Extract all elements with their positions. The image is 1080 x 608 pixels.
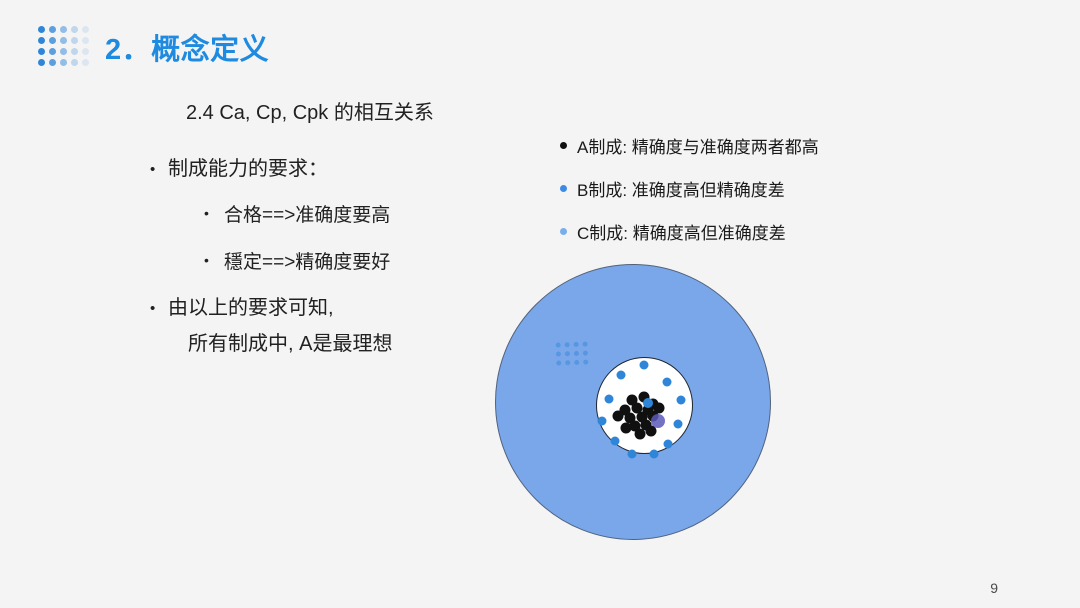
- diagram-cluster-point: [635, 429, 646, 440]
- legend-marker-a-icon: [560, 142, 567, 149]
- legend-label-a: A制成: 精确度与准确度两者都高: [577, 133, 819, 158]
- diagram-grid-dot: [565, 351, 570, 356]
- header-dot: [60, 26, 67, 33]
- diagram-ring-point: [617, 371, 626, 380]
- diagram-grid-dot: [574, 360, 579, 365]
- diagram-highlight-point: [651, 414, 665, 428]
- diagram-ring-point: [674, 420, 683, 429]
- bullet-marker: •: [150, 294, 168, 359]
- header-dot: [71, 48, 78, 55]
- diagram-grid-dot: [583, 351, 588, 356]
- bullet-item-conclusion: • 由以上的要求可知, 所有制成中, A是最理想: [150, 294, 550, 359]
- diagram-ring-point: [605, 395, 614, 404]
- diagram-ring-point: [664, 440, 673, 449]
- diagram-dot-grid-icon: [556, 341, 593, 369]
- left-content-column: 2.4 Ca, Cp, Cpk 的相互关系 • 制成能力的要求： • 合格==>…: [150, 96, 550, 373]
- diagram-grid-dot: [574, 351, 579, 356]
- header-dot: [49, 26, 56, 33]
- slide-header: 2．概念定义: [38, 24, 269, 70]
- diagram-ring-point: [677, 396, 686, 405]
- legend-marker-c-icon: [560, 228, 567, 235]
- diagram-grid-dot: [556, 342, 561, 347]
- header-dot: [60, 59, 67, 66]
- header-dot: [49, 48, 56, 55]
- diagram-grid-dot: [583, 360, 588, 365]
- diagram-ring-point: [663, 378, 672, 387]
- header-dot: [71, 37, 78, 44]
- legend-item-c: C制成: 精确度高但准确度差: [560, 219, 819, 244]
- section-subheading: 2.4 Ca, Cp, Cpk 的相互关系: [186, 96, 550, 125]
- bullet-text: 制成能力的要求：: [168, 155, 328, 184]
- bullet-item-requirements: • 制成能力的要求：: [150, 155, 550, 184]
- diagram-ring-point: [640, 361, 649, 370]
- bullet-marker: •: [204, 200, 224, 227]
- header-dot: [38, 26, 45, 33]
- legend-label-b: B制成: 准确度高但精确度差: [577, 176, 785, 201]
- diagram-grid-dot: [556, 351, 561, 356]
- header-dot: [71, 59, 78, 66]
- header-dot: [82, 48, 89, 55]
- bullet-marker: •: [204, 247, 224, 274]
- legend-item-a: A制成: 精确度与准确度两者都高: [560, 133, 819, 158]
- header-dot: [38, 37, 45, 44]
- page-title: 2．概念定义: [105, 26, 269, 68]
- diagram-grid-dot: [574, 342, 579, 347]
- legend-label-c: C制成: 精确度高但准确度差: [577, 219, 786, 244]
- diagram-ring-point: [611, 437, 620, 446]
- bullet-text-line1: 由以上的要求可知,: [168, 297, 334, 319]
- header-dot: [38, 48, 45, 55]
- header-dot: [49, 59, 56, 66]
- header-dot: [82, 59, 89, 66]
- sub-bullet-item-accuracy: • 合格==>准确度要高: [204, 200, 550, 227]
- diagram-cluster-point: [613, 411, 624, 422]
- header-dot: [60, 48, 67, 55]
- slide-canvas: 2．概念定义 2.4 Ca, Cp, Cpk 的相互关系 • 制成能力的要求： …: [0, 0, 1080, 608]
- diagram-grid-dot: [565, 360, 570, 365]
- target-accuracy-precision-diagram: [492, 258, 782, 553]
- header-dot: [49, 37, 56, 44]
- diagram-grid-dot: [556, 360, 561, 365]
- diagram-grid-dot: [583, 342, 588, 347]
- header-dot: [38, 59, 45, 66]
- legend-marker-b-icon: [560, 185, 567, 192]
- header-dot: [71, 26, 78, 33]
- sub-bullet-text: 合格==>准确度要高: [224, 200, 390, 227]
- diagram-grid-dot: [565, 342, 570, 347]
- header-dot-grid-icon: [38, 26, 93, 70]
- legend-item-b: B制成: 准确度高但精确度差: [560, 176, 819, 201]
- sub-bullet-text: 穩定==>精确度要好: [224, 247, 390, 274]
- bullet-text-line2: 所有制成中, A是最理想: [188, 330, 392, 359]
- bullet-text-block: 由以上的要求可知, 所有制成中, A是最理想: [168, 294, 392, 359]
- diagram-cluster-point: [621, 423, 632, 434]
- page-number: 9: [990, 580, 998, 596]
- diagram-ring-point: [598, 417, 607, 426]
- bullet-marker: •: [150, 155, 168, 184]
- diagram-ring-point: [650, 450, 659, 459]
- header-dot: [60, 37, 67, 44]
- diagram-ring-point: [628, 450, 637, 459]
- header-dot: [82, 37, 89, 44]
- diagram-highlight-point: [643, 398, 653, 408]
- header-dot: [82, 26, 89, 33]
- legend-list: A制成: 精确度与准确度两者都高 B制成: 准确度高但精确度差 C制成: 精确度…: [560, 133, 819, 262]
